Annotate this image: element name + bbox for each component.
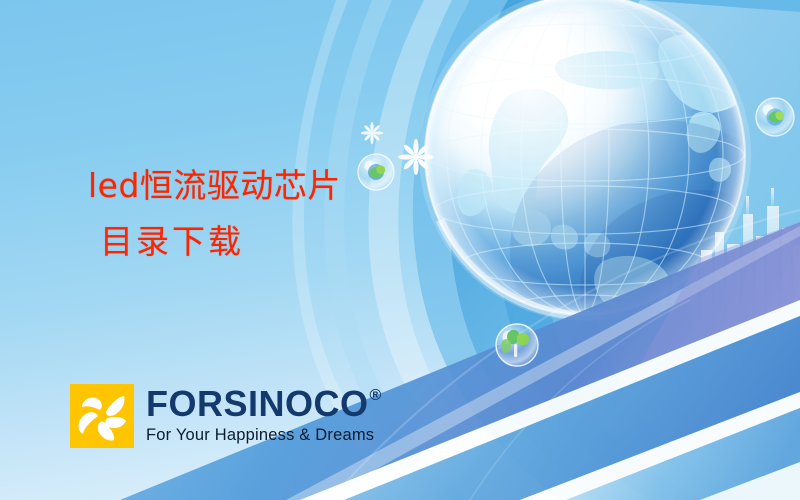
brand-logo-lockup: FORSINOCO ® For Your Happiness & Dreams <box>70 384 382 448</box>
bubble-globe-icon <box>358 154 394 190</box>
poster-headline: led恒流驱动芯片 目录下载 <box>88 166 341 263</box>
bubble-leaf-icon <box>756 98 794 136</box>
brand-tagline: For Your Happiness & Dreams <box>146 427 374 444</box>
bubble-tree-icon <box>496 324 538 366</box>
headline-line-1: led恒流驱动芯片 <box>88 166 341 206</box>
brand-wordmark-text: FORSINOCO <box>146 386 369 422</box>
headline-line-2: 目录下载 <box>100 222 341 262</box>
registered-trademark-symbol: ® <box>370 388 382 404</box>
forsinoco-pinwheel-mark <box>70 384 134 448</box>
brand-text-block: FORSINOCO ® For Your Happiness & Dreams <box>146 384 382 444</box>
poster-canvas: led恒流驱动芯片 目录下载 FORSINOCO ® <box>0 0 800 500</box>
brand-wordmark: FORSINOCO ® <box>146 386 382 422</box>
